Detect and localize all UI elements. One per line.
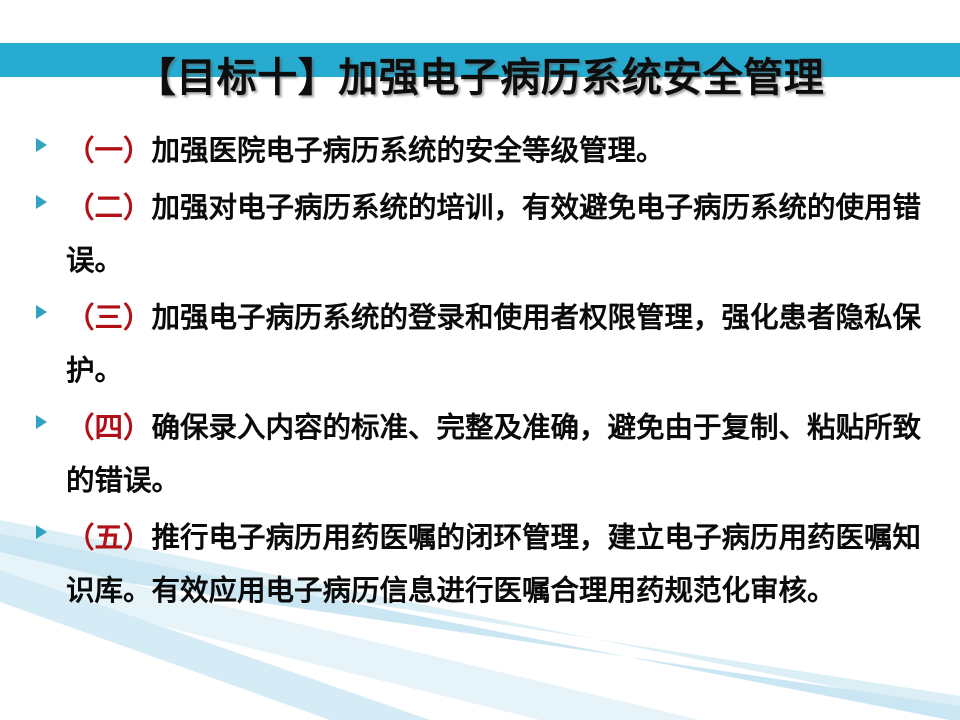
list-item-body: 确保录入内容的标准、完整及准确，避免由于复制、粘贴所致的错误。 [66,411,921,497]
list-item: （二）加强对电子病历系统的培训，有效避免电子病历系统的使用错误。 [0,181,960,287]
presentation-slide: 【目标十】加强电子病历系统安全管理 （一）加强医院电子病历系统的安全等级管理。 … [0,0,960,720]
triangle-bullet-icon [36,291,66,323]
list-item-number: （五） [66,521,152,554]
list-item-text: （三）加强电子病历系统的登录和使用者权限管理，强化患者隐私保护。 [66,291,926,397]
list-item-body: 加强对电子病历系统的培训，有效避免电子病历系统的使用错误。 [66,191,921,277]
bullet-list: （一）加强医院电子病历系统的安全等级管理。 （二）加强对电子病历系统的培训，有效… [0,124,960,621]
list-item-number: （一） [66,134,152,167]
list-item-text: （二）加强对电子病历系统的培训，有效避免电子病历系统的使用错误。 [66,181,926,287]
list-item-body: 推行电子病历用药医嘱的闭环管理，建立电子病历用药医嘱知识库。有效应用电子病历信息… [66,521,921,607]
page-title: 【目标十】加强电子病历系统安全管理 [0,52,960,104]
list-item-text: （四）确保录入内容的标准、完整及准确，避免由于复制、粘贴所致的错误。 [66,401,926,507]
list-item: （一）加强医院电子病历系统的安全等级管理。 [0,124,960,177]
triangle-bullet-icon [36,511,66,543]
list-item-number: （四） [66,411,152,444]
triangle-bullet-icon [36,401,66,433]
triangle-bullet-icon [36,124,66,156]
list-item: （四）确保录入内容的标准、完整及准确，避免由于复制、粘贴所致的错误。 [0,401,960,507]
list-item-body: 加强医院电子病历系统的安全等级管理。 [152,134,665,167]
list-item-text: （五）推行电子病历用药医嘱的闭环管理，建立电子病历用药医嘱知识库。有效应用电子病… [66,511,926,617]
list-item-text: （一）加强医院电子病历系统的安全等级管理。 [66,124,926,177]
list-item: （五）推行电子病历用药医嘱的闭环管理，建立电子病历用药医嘱知识库。有效应用电子病… [0,511,960,617]
list-item-number: （二） [66,191,152,224]
list-item-body: 加强电子病历系统的登录和使用者权限管理，强化患者隐私保护。 [66,301,921,387]
list-item: （三）加强电子病历系统的登录和使用者权限管理，强化患者隐私保护。 [0,291,960,397]
triangle-bullet-icon [36,181,66,213]
list-item-number: （三） [66,301,152,334]
